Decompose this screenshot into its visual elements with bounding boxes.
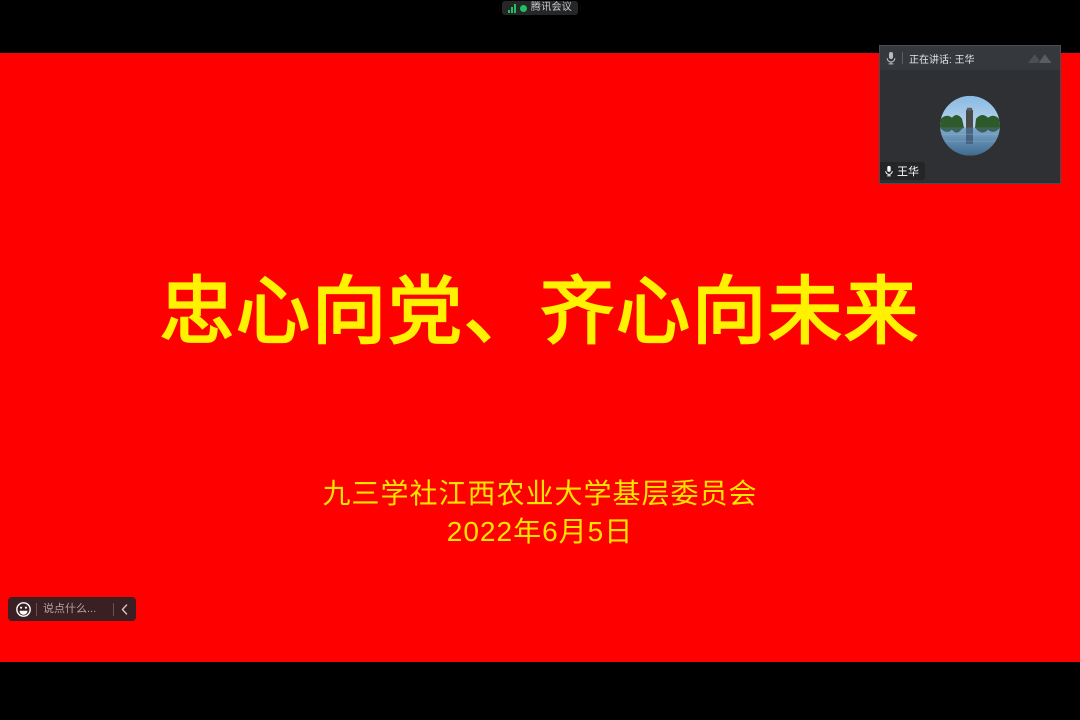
meeting-status-pill[interactable]: 腾讯会议 [502,1,578,15]
avatar-landscape-photo-icon [940,96,1000,156]
slide-date: 2022年6月5日 [0,513,1080,551]
chat-bar[interactable] [8,597,136,621]
participant-name-label: 王华 [897,163,919,179]
emoji-button[interactable] [10,597,36,621]
video-panel-body: 王华 [880,70,1060,184]
signal-bars-icon [508,4,516,13]
participant-name-tag: 王华 [880,162,925,180]
chevron-left-icon [121,604,128,615]
screen-root: 腾讯会议 忠心向党、齐心向未来 九三学社江西农业大学基层委员会 2022年6月5… [0,0,1080,720]
header-divider [902,52,903,64]
tencent-meeting-logo-icon [1026,51,1056,65]
video-panel[interactable]: 正在讲话: 王华 [879,45,1061,184]
speaking-label: 正在讲话: 王华 [909,51,1024,66]
microphone-icon [884,50,898,66]
video-panel-header: 正在讲话: 王华 [880,46,1060,70]
smiley-face-icon [16,602,31,617]
app-name-label: 腾讯会议 [531,1,572,15]
microphone-icon [883,164,895,178]
chat-input[interactable] [37,597,113,621]
slide-title: 忠心向党、齐心向未来 [0,275,1080,349]
status-bar: 腾讯会议 [0,0,1080,16]
slide-organization: 九三学社江西农业大学基层委员会 [0,475,1080,513]
chat-collapse-button[interactable] [114,597,134,621]
green-status-dot-icon [520,5,527,12]
